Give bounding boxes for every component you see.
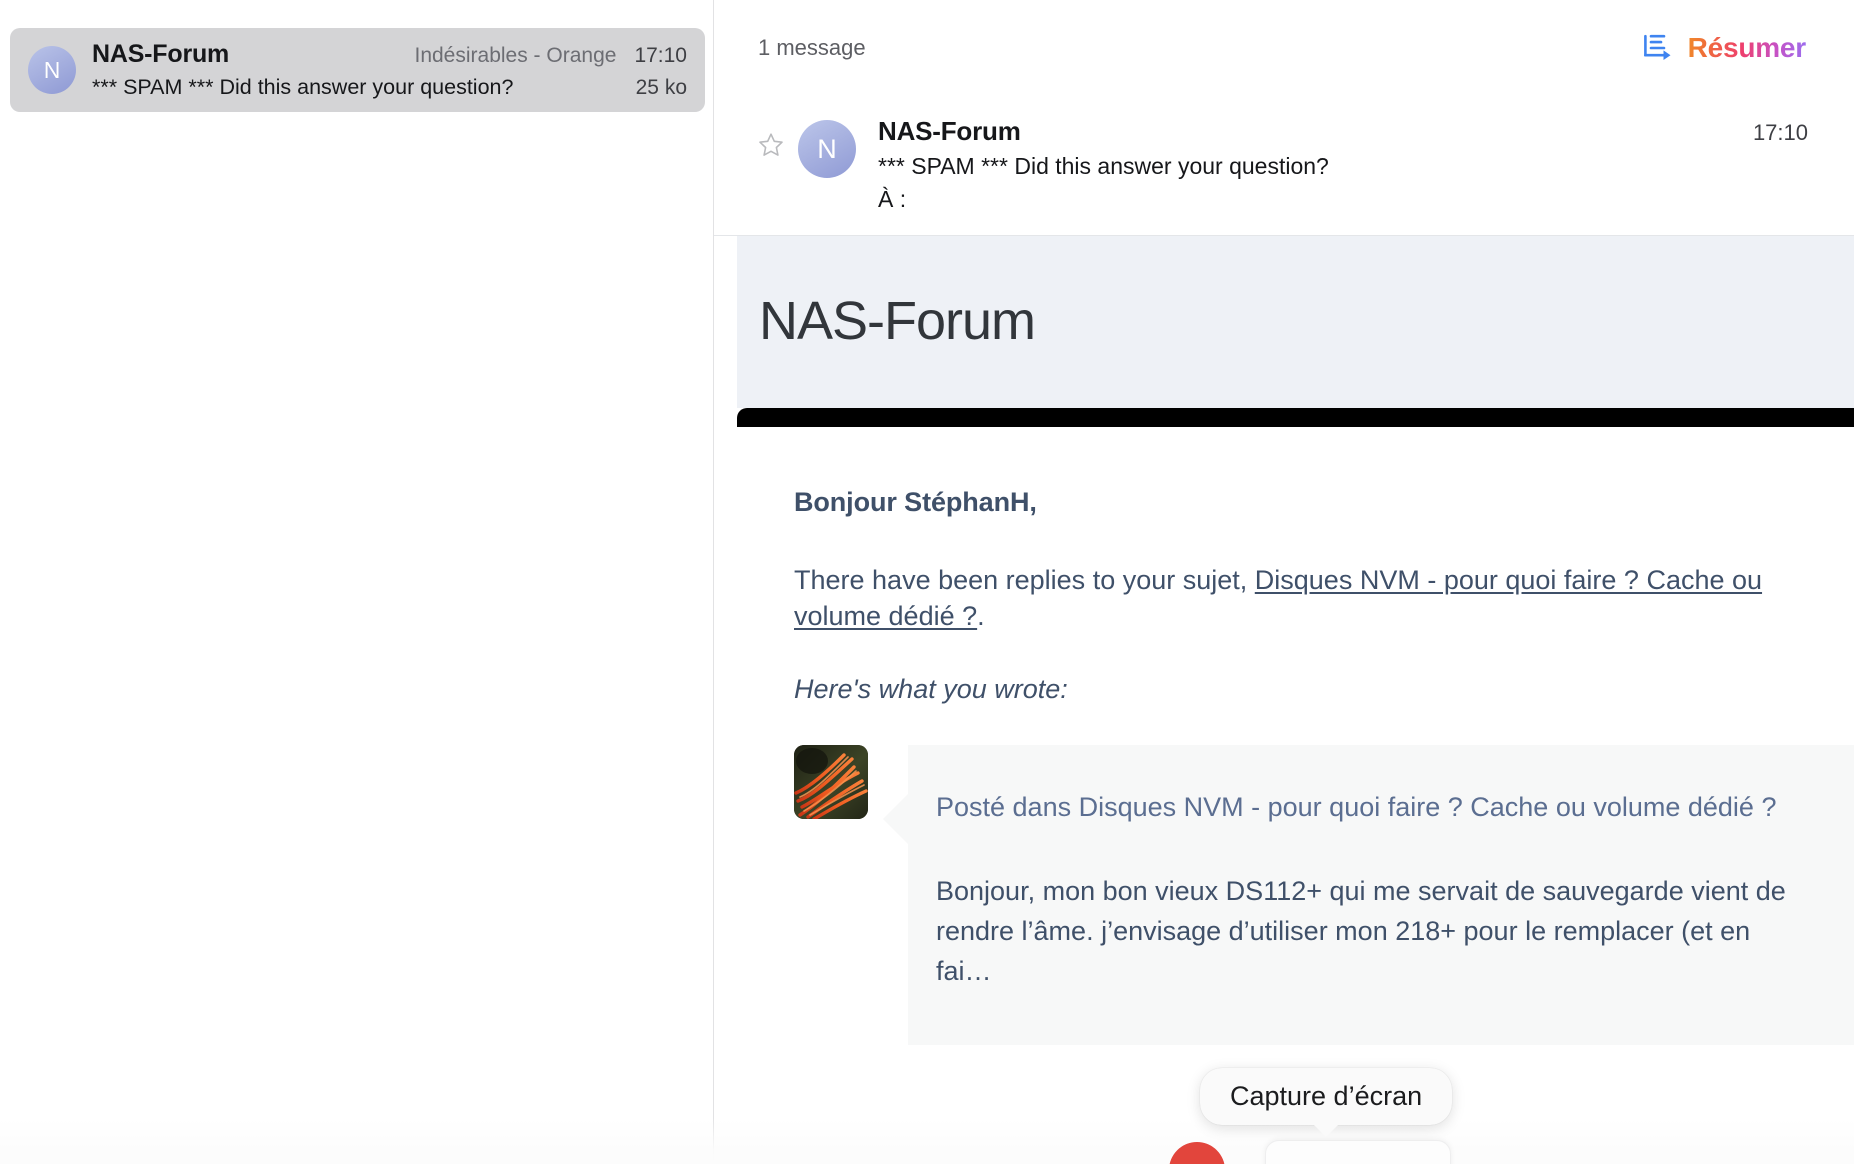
email-brand-banner: NAS-Forum: [737, 236, 1854, 408]
list-item[interactable]: N NAS-Forum Indésirables - Orange 17:10 …: [10, 28, 705, 112]
message-header-text: NAS-Forum *** SPAM *** Did this answer y…: [878, 110, 1733, 213]
message-recipient: À :: [878, 186, 1733, 213]
email-body: NAS-Forum Bonjour StéphanH, There have b…: [714, 236, 1854, 1045]
email-brand-rule: [737, 408, 1854, 427]
summarize-label: Résumer: [1688, 32, 1806, 64]
quote-heading: Posté dans Disques NVM - pour quoi faire…: [936, 789, 1802, 826]
email-intro-suffix: .: [977, 601, 985, 631]
mail-window: N NAS-Forum Indésirables - Orange 17:10 …: [0, 0, 1854, 1164]
message-sender[interactable]: NAS-Forum: [878, 116, 1733, 147]
quote-text: Bonjour, mon bon vieux DS112+ qui me ser…: [936, 872, 1802, 992]
summarize-button[interactable]: Résumer: [1640, 28, 1808, 68]
message-time: 17:10: [1753, 120, 1808, 146]
list-item-body: NAS-Forum Indésirables - Orange 17:10 **…: [92, 40, 687, 100]
list-item-folder: Indésirables - Orange: [414, 44, 616, 68]
email-brand-title: NAS-Forum: [759, 290, 1854, 352]
message-header: N NAS-Forum *** SPAM *** Did this answer…: [714, 96, 1854, 236]
list-item-time: 17:10: [634, 44, 687, 68]
avatar: N: [28, 46, 76, 94]
quote-box: Posté dans Disques NVM - pour quoi faire…: [908, 745, 1854, 1045]
email-content: Bonjour StéphanH, There have been replie…: [714, 427, 1854, 1045]
email-intro-paragraph: There have been replies to your sujet, D…: [794, 563, 1804, 634]
star-outline-icon[interactable]: [758, 132, 784, 158]
message-count-label: 1 message: [758, 35, 866, 61]
thread-toolbar: 1 message Résumer: [714, 0, 1854, 96]
quoted-post: Posté dans Disques NVM - pour quoi faire…: [794, 745, 1854, 1045]
screenshot-tooltip-label: Capture d’écran: [1230, 1081, 1422, 1111]
email-greeting: Bonjour StéphanH,: [794, 487, 1854, 518]
email-wrote-line: Here's what you wrote:: [794, 674, 1854, 705]
message-subject: *** SPAM *** Did this answer your questi…: [878, 153, 1733, 180]
screenshot-tooltip: Capture d’écran: [1200, 1068, 1452, 1125]
email-intro-prefix: There have been replies to your sujet,: [794, 565, 1255, 595]
summarize-icon: [1642, 33, 1676, 63]
list-item-subject: *** SPAM *** Did this answer your questi…: [92, 75, 513, 100]
message-list-pane: N NAS-Forum Indésirables - Orange 17:10 …: [0, 0, 714, 1164]
list-item-size: 25 ko: [618, 76, 687, 100]
reading-pane: 1 message Résumer: [714, 0, 1854, 1164]
avatar-initial: N: [44, 57, 61, 84]
list-item-sender: NAS-Forum: [92, 40, 229, 69]
avatar-initial: N: [817, 134, 837, 165]
list-item-bottom-row: *** SPAM *** Did this answer your questi…: [92, 75, 687, 100]
avatar: N: [798, 120, 856, 178]
list-item-top-row: NAS-Forum Indésirables - Orange 17:10: [92, 40, 687, 69]
quote-avatar: [794, 745, 868, 819]
